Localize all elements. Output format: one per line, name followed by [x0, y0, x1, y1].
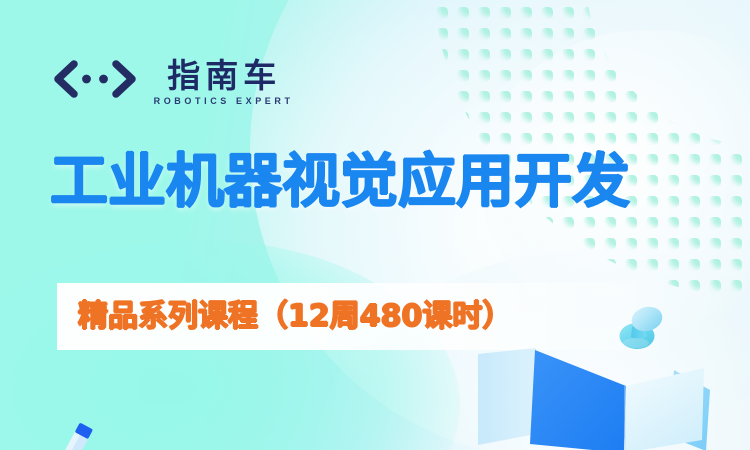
brand-name-cn: 指南车	[162, 58, 281, 94]
push-pin-icon	[612, 296, 670, 356]
brand-name-en: ROBOTICS EXPERT	[150, 95, 294, 107]
page-title: 工业机器视觉应用开发	[50, 148, 630, 214]
open-book-icon	[478, 348, 750, 450]
subtitle-text: 精品系列课程（12周480课时）	[78, 299, 512, 335]
pencil-icon	[58, 422, 98, 450]
brand-text-block: 指南车 ROBOTICS EXPERT	[150, 57, 294, 107]
angle-brackets-dots-icon	[52, 57, 138, 101]
course-promo-banner: 指南车 ROBOTICS EXPERT 工业机器视觉应用开发 精品系列课程（12…	[0, 0, 750, 450]
brand-logo: 指南车 ROBOTICS EXPERT	[52, 57, 294, 107]
